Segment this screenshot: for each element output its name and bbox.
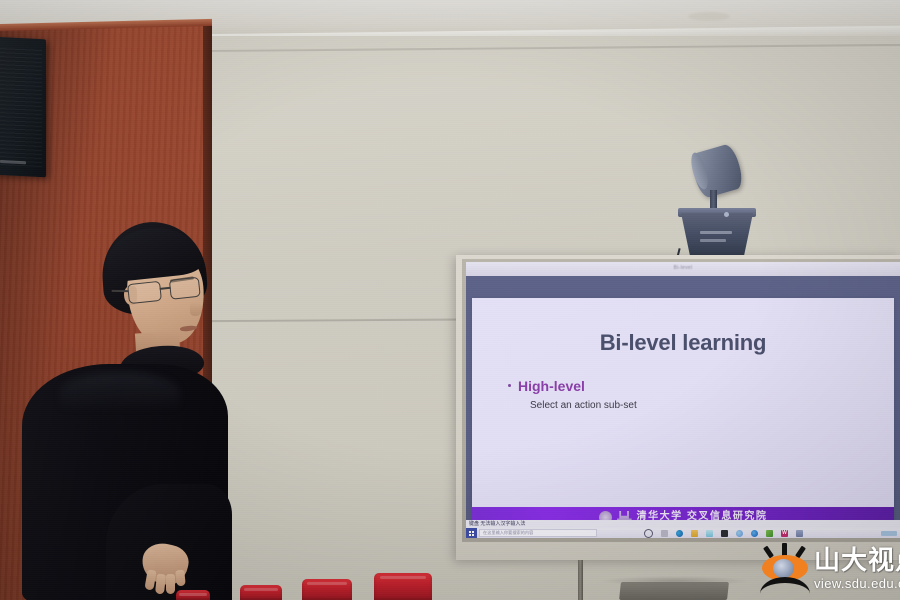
chair-highlight [307,582,347,585]
speaker-grill [0,45,42,167]
camera-mount-label-1 [700,231,732,234]
watermark: 山大视点 view.sdu.edu.cn [758,543,900,600]
windows-start-icon[interactable] [466,528,477,538]
ppt-window-frame: Bi-level learning High-level Select an a… [466,276,900,520]
presenter-nose [190,302,202,316]
file-explorer-icon[interactable] [691,530,698,537]
camera-status-led [724,212,729,217]
camera-mount-label-2 [700,239,726,242]
presenter-finger [175,570,186,587]
presentation-slide[interactable]: Bi-level learning High-level Select an a… [472,298,894,527]
display-stand-post [578,560,583,600]
app-blue-icon[interactable] [751,530,758,537]
chair-seat [302,579,352,600]
ppt-title-bar[interactable]: Bi-level [466,262,900,276]
chair-highlight [380,576,426,579]
microsoft-store-icon[interactable] [706,530,713,537]
ceiling-vent [688,12,730,21]
misc-app-icon[interactable] [796,530,803,537]
ppt-window-title: Bi-level [674,265,693,271]
camera-mount-base [681,213,753,261]
windows-taskbar[interactable]: 在这里输入你要搜索的内容 W [466,528,900,538]
presenter-hair-front [104,223,203,283]
eyeglass-lens-right [169,277,201,300]
app-blue-light-icon[interactable] [736,530,743,537]
presenter-shoulder-highlight [60,372,180,412]
bullet-dot-icon [508,384,511,387]
chair-seat [176,590,210,600]
table-surface [619,582,729,600]
watermark-url: view.sdu.edu.cn [814,577,900,590]
slide-bullet-item: High-level [508,378,585,394]
eye-logo-icon [758,543,812,591]
chair-seat [240,585,282,600]
taskbar-search-input[interactable]: 在这里输入你要搜索的内容 [479,529,597,537]
cortana-icon[interactable] [644,529,653,538]
system-tray[interactable] [881,531,897,536]
chair-seat [374,573,432,600]
slide-bullet-label: High-level [518,378,585,394]
presenter-mouth [180,325,197,332]
display-screen[interactable]: Bi-level Bi-level learning High-level Se… [466,262,900,538]
ime-notification-text: 键盘 无法输入汉字输入法 [469,520,525,527]
watermark-title: 山大视点 [814,547,900,573]
ime-notification-bar: 键盘 无法输入汉字输入法 [466,520,900,528]
wall-speaker [0,37,46,178]
photo-scene: Bi-level Bi-level learning High-level Se… [0,0,900,600]
eye-pupil [773,559,794,578]
taskbar-search-placeholder: 在这里输入你要搜索的内容 [483,530,533,536]
task-view-icon[interactable] [661,530,668,537]
taskbar-icon-strip: W [644,529,803,538]
security-lock-icon[interactable] [721,530,728,537]
presenter-person [20,222,235,600]
eye-brow-arc [760,577,810,594]
chair-highlight [244,588,278,591]
eyeglass-lens-left [127,281,162,304]
presenter-finger [166,574,175,594]
chair-highlight [179,593,206,596]
share-arrow-icon[interactable] [766,530,773,537]
eyeglass-temple [112,290,129,292]
word-icon[interactable]: W [781,530,788,537]
slide-title: Bi-level learning [472,330,894,356]
slide-sub-text: Select an action sub-set [530,400,637,411]
edge-browser-icon[interactable] [676,530,683,537]
